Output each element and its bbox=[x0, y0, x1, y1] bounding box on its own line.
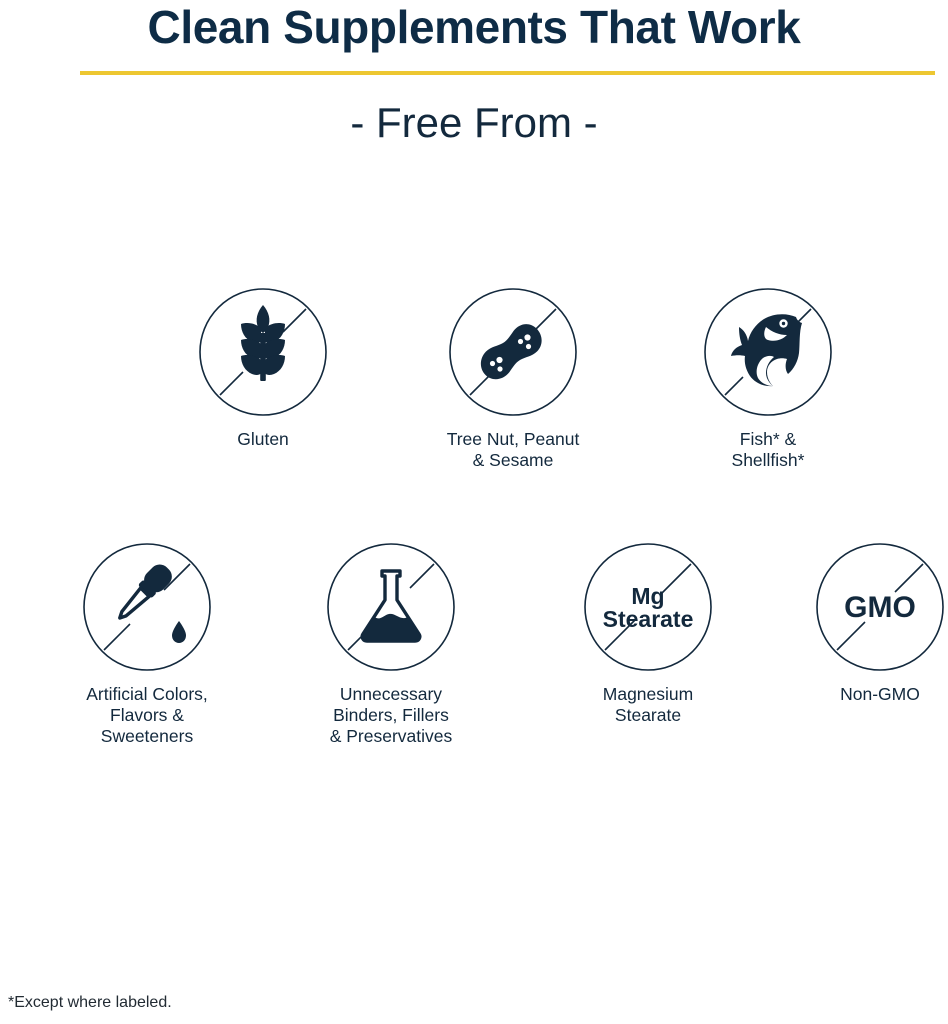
badge-nuts-circle bbox=[448, 287, 578, 417]
badge-binders-circle bbox=[326, 542, 456, 672]
badge-binders-label: Unnecessary Binders, Fillers & Preservat… bbox=[291, 684, 491, 747]
footnote: *Except where labeled. bbox=[8, 993, 172, 1013]
badge-gluten: Gluten bbox=[163, 287, 363, 450]
dropper-icon bbox=[82, 542, 212, 672]
badge-gmo-label: Non-GMO bbox=[780, 684, 948, 705]
badge-nuts-label: Tree Nut, Peanut & Sesame bbox=[413, 429, 613, 471]
badge-magnesium: Mg Stearate Magnesium Stearate bbox=[548, 542, 748, 726]
badge-colors-circle bbox=[82, 542, 212, 672]
page-title: Clean Supplements That Work bbox=[0, 0, 948, 54]
header: Clean Supplements That Work - Free From … bbox=[0, 0, 948, 54]
mg-stearate-line2: Stearate bbox=[603, 606, 694, 632]
badge-magnesium-circle: Mg Stearate bbox=[583, 542, 713, 672]
page-subtitle: - Free From - bbox=[0, 97, 948, 149]
badge-binders: Unnecessary Binders, Fillers & Preservat… bbox=[291, 542, 491, 747]
badge-gmo: GMO Non-GMO bbox=[780, 542, 948, 705]
badge-nuts: Tree Nut, Peanut & Sesame bbox=[413, 287, 613, 471]
badge-colors-label: Artificial Colors, Flavors & Sweeteners bbox=[47, 684, 247, 747]
badge-gmo-circle: GMO bbox=[815, 542, 945, 672]
flask-icon bbox=[326, 542, 456, 672]
title-divider bbox=[80, 71, 935, 75]
text-badge-icon: Mg Stearate bbox=[583, 542, 713, 672]
badge-magnesium-label: Magnesium Stearate bbox=[548, 684, 748, 726]
badge-fish: Fish* & Shellfish* bbox=[668, 287, 868, 471]
text-badge-icon: GMO bbox=[815, 542, 945, 672]
wheat-stalk-icon bbox=[198, 287, 328, 417]
fish-icon bbox=[703, 287, 833, 417]
peanut-icon bbox=[448, 287, 578, 417]
badge-fish-circle bbox=[703, 287, 833, 417]
badge-fish-label: Fish* & Shellfish* bbox=[668, 429, 868, 471]
gmo-text: GMO bbox=[844, 591, 916, 624]
badge-gluten-label: Gluten bbox=[163, 429, 363, 450]
badge-gluten-circle bbox=[198, 287, 328, 417]
badge-colors: Artificial Colors, Flavors & Sweeteners bbox=[47, 542, 247, 747]
